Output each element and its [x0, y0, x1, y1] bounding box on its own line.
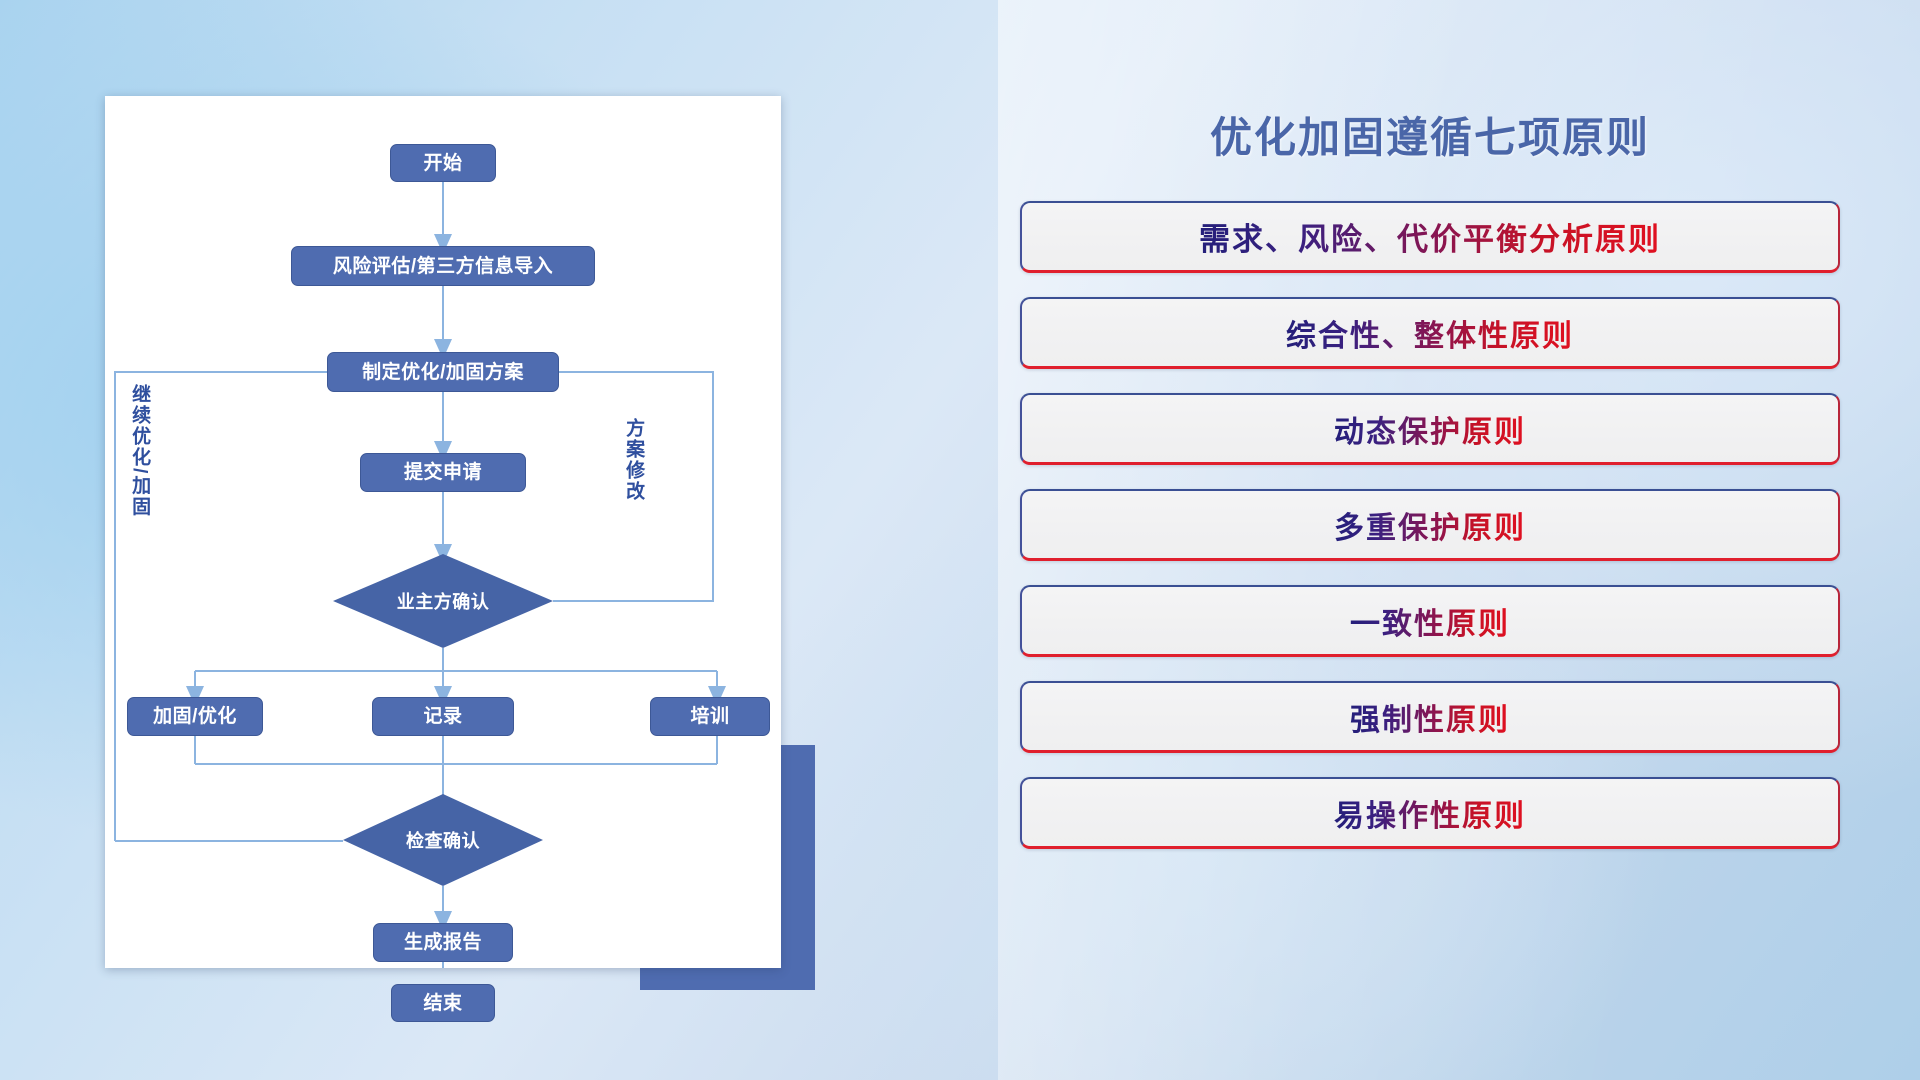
edge-label-left-loop: 继续优化/加固 [129, 384, 149, 517]
node-record[interactable]: 记录 [372, 697, 514, 736]
node-risk-assessment-label: 风险评估/第三方信息导入 [333, 257, 553, 276]
principle-label: 需求、风险、代价平衡分析原则 [1199, 214, 1661, 259]
node-reinforce-optimize-label: 加固/优化 [153, 707, 237, 726]
node-submit-application[interactable]: 提交申请 [360, 453, 526, 492]
principle-card-7[interactable]: 易操作性原则 [1020, 777, 1840, 849]
principle-card-3[interactable]: 动态保护原则 [1020, 393, 1840, 465]
slide-root: 开始 风险评估/第三方信息导入 制定优化/加固方案 提交申请 业主方确认 加固/… [0, 0, 1920, 1080]
principle-label: 易操作性原则 [1334, 791, 1526, 835]
decision-check-confirm-label: 检查确认 [406, 827, 480, 853]
node-training[interactable]: 培训 [650, 697, 770, 736]
page-title: 优化加固遵循七项原则 [1020, 104, 1840, 165]
principle-label: 动态保护原则 [1334, 407, 1526, 451]
principle-card-2[interactable]: 综合性、整体性原则 [1020, 297, 1840, 369]
principle-card-4[interactable]: 多重保护原则 [1020, 489, 1840, 561]
principles-panel: 优化加固遵循七项原则 需求、风险、代价平衡分析原则 综合性、整体性原则 动态保护… [1020, 104, 1840, 849]
node-start[interactable]: 开始 [390, 144, 496, 182]
principle-card-6[interactable]: 强制性原则 [1020, 681, 1840, 753]
node-generate-report-label: 生成报告 [404, 933, 482, 952]
principles-list: 需求、风险、代价平衡分析原则 综合性、整体性原则 动态保护原则 多重保护原则 一… [1020, 201, 1840, 849]
flowchart-card: 开始 风险评估/第三方信息导入 制定优化/加固方案 提交申请 业主方确认 加固/… [105, 96, 781, 968]
node-record-label: 记录 [423, 707, 462, 726]
node-make-plan-label: 制定优化/加固方案 [362, 363, 524, 382]
node-training-label: 培训 [690, 707, 729, 726]
decision-owner-confirm[interactable]: 业主方确认 [333, 554, 553, 648]
decision-owner-confirm-label: 业主方确认 [397, 588, 490, 614]
node-make-plan[interactable]: 制定优化/加固方案 [327, 352, 559, 392]
node-end-label: 结束 [423, 994, 462, 1013]
node-reinforce-optimize[interactable]: 加固/优化 [127, 697, 263, 736]
node-start-label: 开始 [423, 154, 462, 173]
edge-label-right-loop: 方案修改 [623, 418, 643, 502]
principle-label: 综合性、整体性原则 [1286, 311, 1574, 355]
node-generate-report[interactable]: 生成报告 [373, 923, 513, 962]
principle-card-5[interactable]: 一致性原则 [1020, 585, 1840, 657]
principle-label: 多重保护原则 [1334, 503, 1526, 547]
principle-label: 强制性原则 [1350, 695, 1510, 739]
node-submit-application-label: 提交申请 [404, 463, 482, 482]
node-end[interactable]: 结束 [391, 984, 495, 1022]
principle-label: 一致性原则 [1350, 599, 1510, 643]
principle-card-1[interactable]: 需求、风险、代价平衡分析原则 [1020, 201, 1840, 273]
node-risk-assessment[interactable]: 风险评估/第三方信息导入 [291, 246, 595, 286]
flowchart: 开始 风险评估/第三方信息导入 制定优化/加固方案 提交申请 业主方确认 加固/… [105, 96, 781, 968]
decision-check-confirm[interactable]: 检查确认 [343, 794, 543, 886]
